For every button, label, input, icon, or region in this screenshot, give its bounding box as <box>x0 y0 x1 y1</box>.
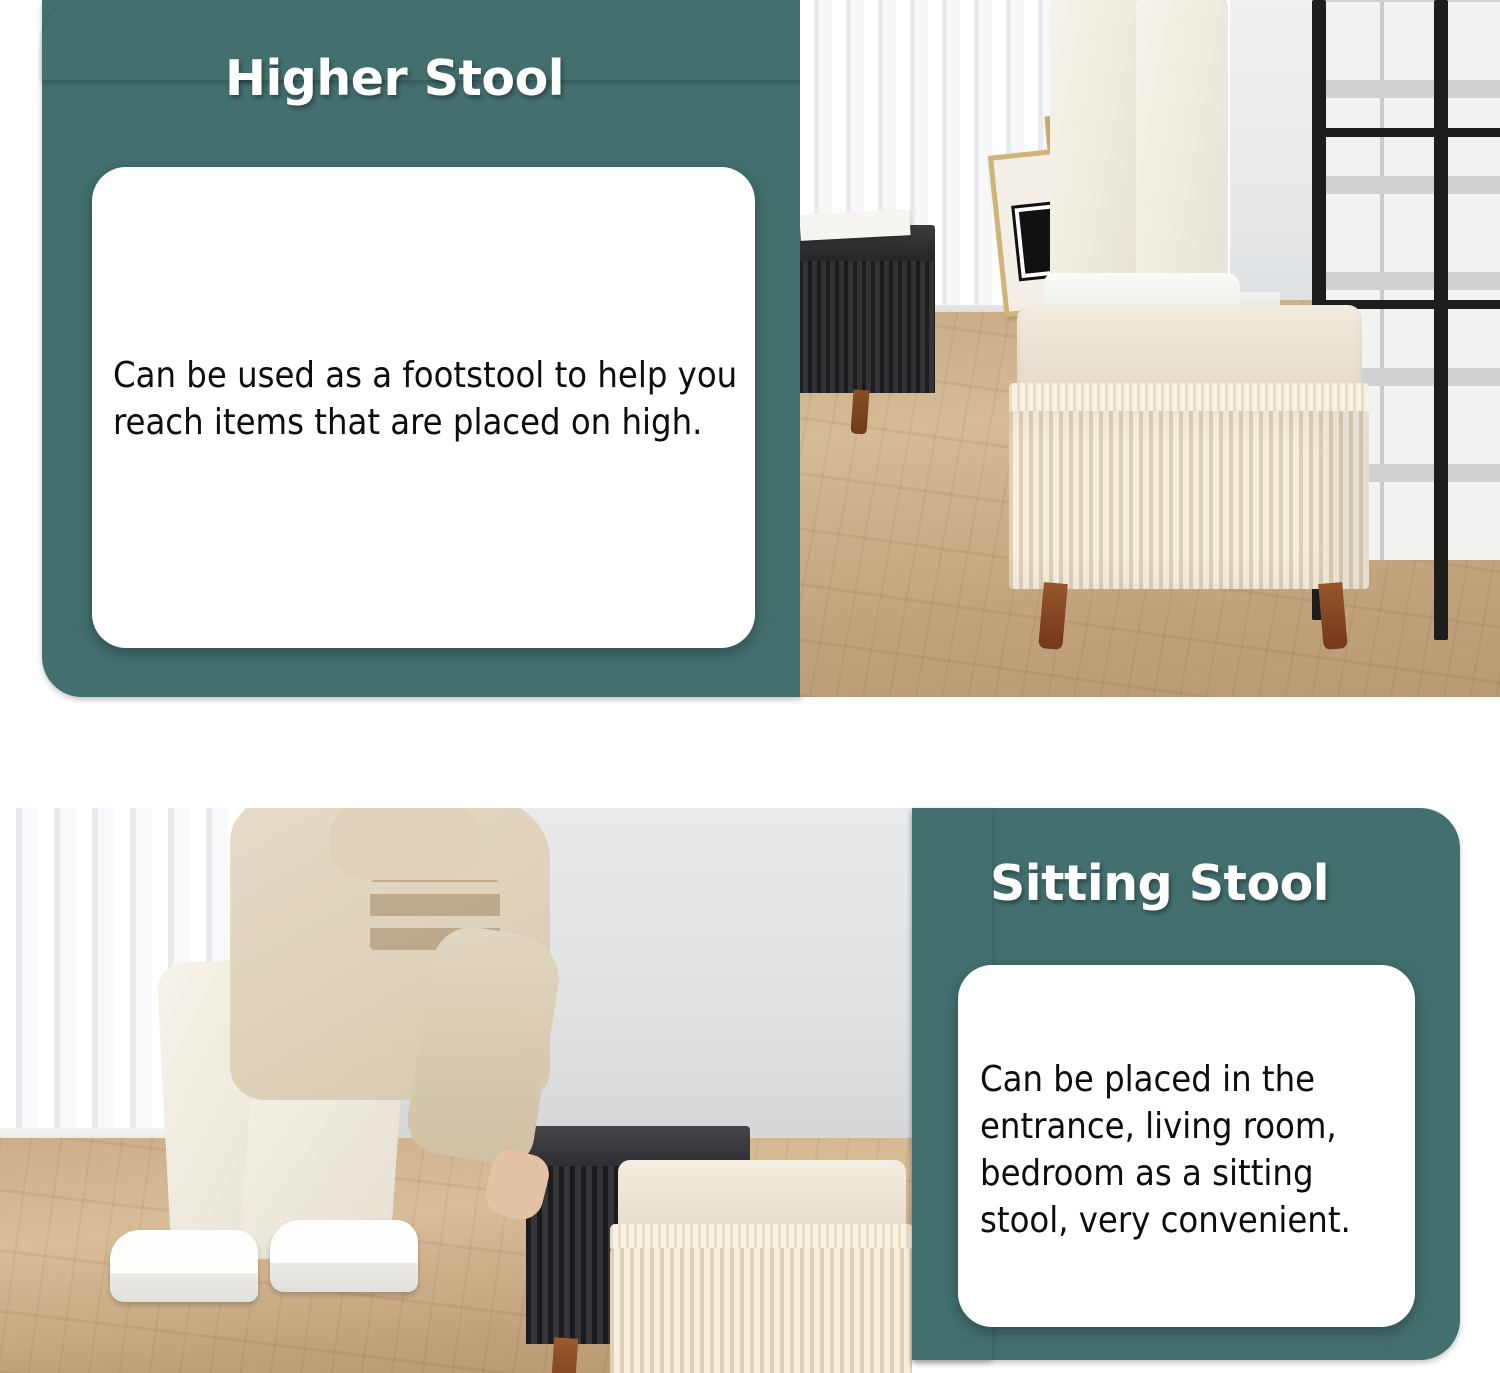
higher-stool-title: Higher Stool <box>225 50 564 107</box>
person-pant-left <box>1050 0 1142 295</box>
photo-cream-stool <box>608 1160 912 1373</box>
sitting-stool-title: Sitting Stool <box>990 855 1329 912</box>
photo-dark-ottoman <box>800 225 935 415</box>
dark-ottoman-leg <box>850 389 869 434</box>
photo-shelf-post-right <box>1434 0 1448 640</box>
dark-ottoman-body <box>800 261 935 393</box>
photo-person-sitting <box>120 808 680 1370</box>
cream-stool-body <box>1009 411 1369 589</box>
photo-shelf-rail-upper <box>1320 128 1500 137</box>
person-shoe-right <box>270 1220 418 1292</box>
sitting-stool-photo <box>0 808 912 1373</box>
photo-person-standing <box>1050 0 1300 355</box>
higher-stool-body-text: Can be used as a footstool to help you r… <box>113 352 738 446</box>
person-shoe-left <box>110 1230 258 1302</box>
higher-stool-photo <box>800 0 1500 697</box>
person-hood <box>330 808 480 880</box>
sitting-stool-body-text: Can be placed in the entrance, living ro… <box>980 1056 1400 1244</box>
cream-stool-leg-right <box>1318 582 1348 650</box>
cream-stool-body <box>610 1248 912 1373</box>
cream-stool-leg-left <box>1038 582 1068 650</box>
person-pant-right <box>1136 0 1228 295</box>
photo-cream-stool <box>1005 305 1375 650</box>
